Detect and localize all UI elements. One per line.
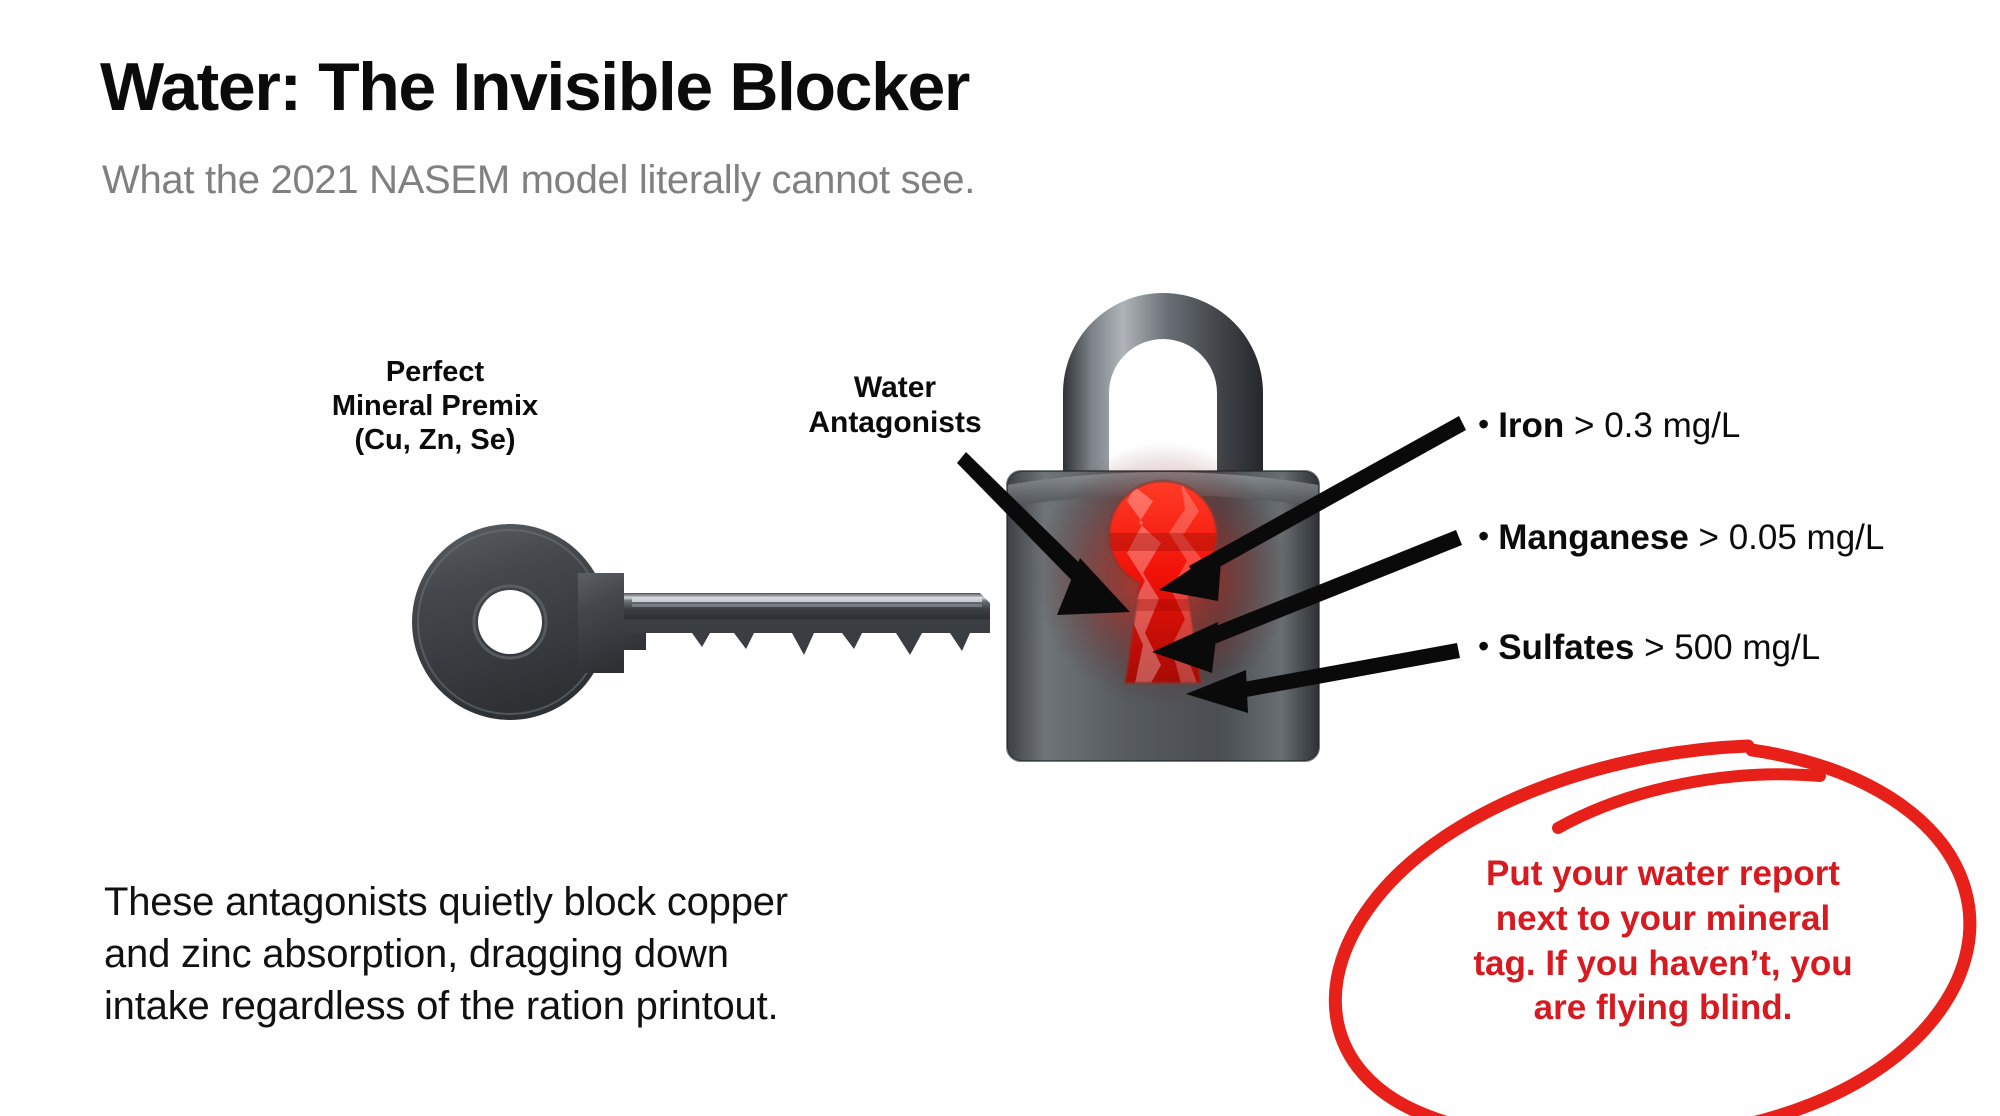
body-line-3: intake regardless of the ration printout… [104, 980, 964, 1032]
mineral-premix-key-graphic [410, 515, 1010, 730]
callout-line-2: next to your mineral [1418, 897, 1908, 942]
callout-line-1: Put your water report [1418, 852, 1908, 897]
bullet-dot-icon: • [1478, 518, 1489, 554]
list-item: •Manganese > 0.05 mg/L [1478, 520, 1884, 555]
body-paragraph: These antagonists quietly block copper a… [104, 876, 964, 1032]
padlock-icon [985, 275, 1340, 785]
antagonists-label-line2: Antagonists [770, 405, 1020, 440]
antagonist-value: > 500 mg/L [1634, 628, 1820, 667]
premix-label-line2: Mineral Premix [300, 389, 570, 423]
key-icon [410, 515, 1010, 730]
body-line-2: and zinc absorption, dragging down [104, 928, 964, 980]
premix-label-line3: (Cu, Zn, Se) [300, 423, 570, 457]
callout-line-4: are flying blind. [1418, 986, 1908, 1031]
antagonist-value: > 0.3 mg/L [1564, 406, 1740, 445]
padlock-graphic [985, 275, 1340, 785]
antagonist-name: Manganese [1498, 518, 1689, 557]
antagonist-name: Sulfates [1498, 628, 1634, 667]
premix-label-line1: Perfect [300, 355, 570, 389]
antagonist-value: > 0.05 mg/L [1689, 518, 1885, 557]
slide-canvas: Water: The Invisible Blocker What the 20… [0, 0, 2000, 1116]
page-title: Water: The Invisible Blocker [100, 52, 969, 123]
water-antagonists-label: Water Antagonists [770, 370, 1020, 441]
list-item: •Iron > 0.3 mg/L [1478, 408, 1740, 443]
action-callout-text: Put your water report next to your miner… [1418, 852, 1908, 1031]
body-line-1: These antagonists quietly block copper [104, 876, 964, 928]
callout-line-3: tag. If you haven’t, you [1418, 942, 1908, 987]
bullet-dot-icon: • [1478, 406, 1489, 442]
list-item: •Sulfates > 500 mg/L [1478, 630, 1820, 665]
mineral-premix-label: Perfect Mineral Premix (Cu, Zn, Se) [300, 355, 570, 458]
antagonist-name: Iron [1498, 406, 1564, 445]
action-callout: Put your water report next to your miner… [1300, 700, 2000, 1116]
antagonists-label-line1: Water [770, 370, 1020, 405]
page-subtitle: What the 2021 NASEM model literally cann… [102, 158, 975, 203]
bullet-dot-icon: • [1478, 628, 1489, 664]
